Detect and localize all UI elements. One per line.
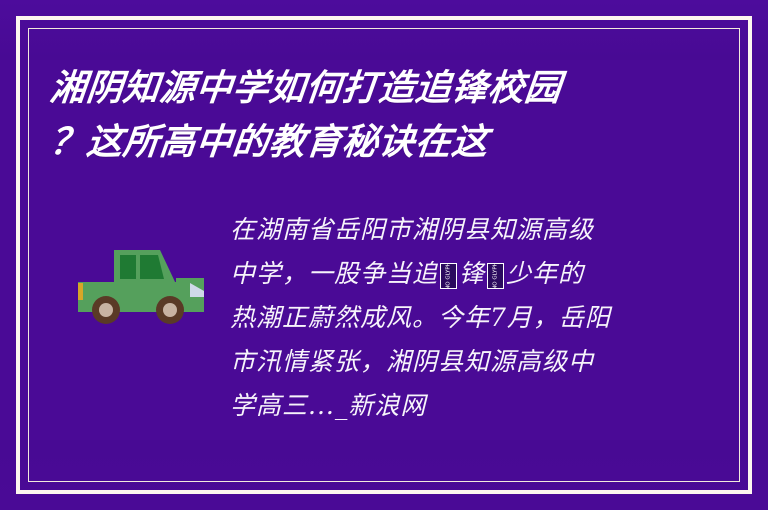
missing-glyph-box-1: NO GLYPH xyxy=(440,263,457,289)
summary-line-2-part-3: 少年的 xyxy=(506,259,584,288)
background-tint-top xyxy=(0,0,768,60)
summary-line-1: 在湖南省岳阳市湘阴县知源高级 xyxy=(230,208,670,252)
page-title: 湘阴知源中学如何打造追锋校园 ？这所高中的教育秘诀在这 xyxy=(50,62,710,170)
truck-wheel-rear xyxy=(156,296,184,324)
article-summary: 在湖南省岳阳市湘阴县知源高级 中学，一股争当追NO GLYPH锋NO GLYPH… xyxy=(230,208,670,428)
summary-line-2-part-2: 锋 xyxy=(459,259,485,288)
summary-line-5: 学高三..._新浪网 xyxy=(230,384,670,428)
summary-line-2: 中学，一股争当追NO GLYPH锋NO GLYPH少年的 xyxy=(230,252,670,296)
background-tint-bottom xyxy=(0,440,768,510)
missing-glyph-box-2: NO GLYPH xyxy=(487,263,504,289)
headline-line-1: 湘阴知源中学如何打造追锋校园 xyxy=(47,62,713,116)
headline-line-2: ？这所高中的教育秘诀在这 xyxy=(47,116,713,170)
truck-wheel-front xyxy=(92,296,120,324)
truck-window-front xyxy=(120,255,136,279)
summary-line-4: 市汛情紧张，湘阴县知源高级中 xyxy=(230,340,670,384)
summary-line-2-part-1: 中学，一股争当追 xyxy=(230,259,438,288)
missing-glyph-label-1: NO GLYPH xyxy=(446,263,452,289)
pickup-truck-icon xyxy=(78,250,212,324)
truck-taillight xyxy=(78,283,83,300)
missing-glyph-label-2: NO GLYPH xyxy=(493,263,499,289)
summary-line-3: 热潮正蔚然成风。今年7月，岳阳 xyxy=(230,296,670,340)
article-card: 湘阴知源中学如何打造追锋校园 ？这所高中的教育秘诀在这 在湖南省岳阳市湘阴县知源… xyxy=(0,0,768,510)
